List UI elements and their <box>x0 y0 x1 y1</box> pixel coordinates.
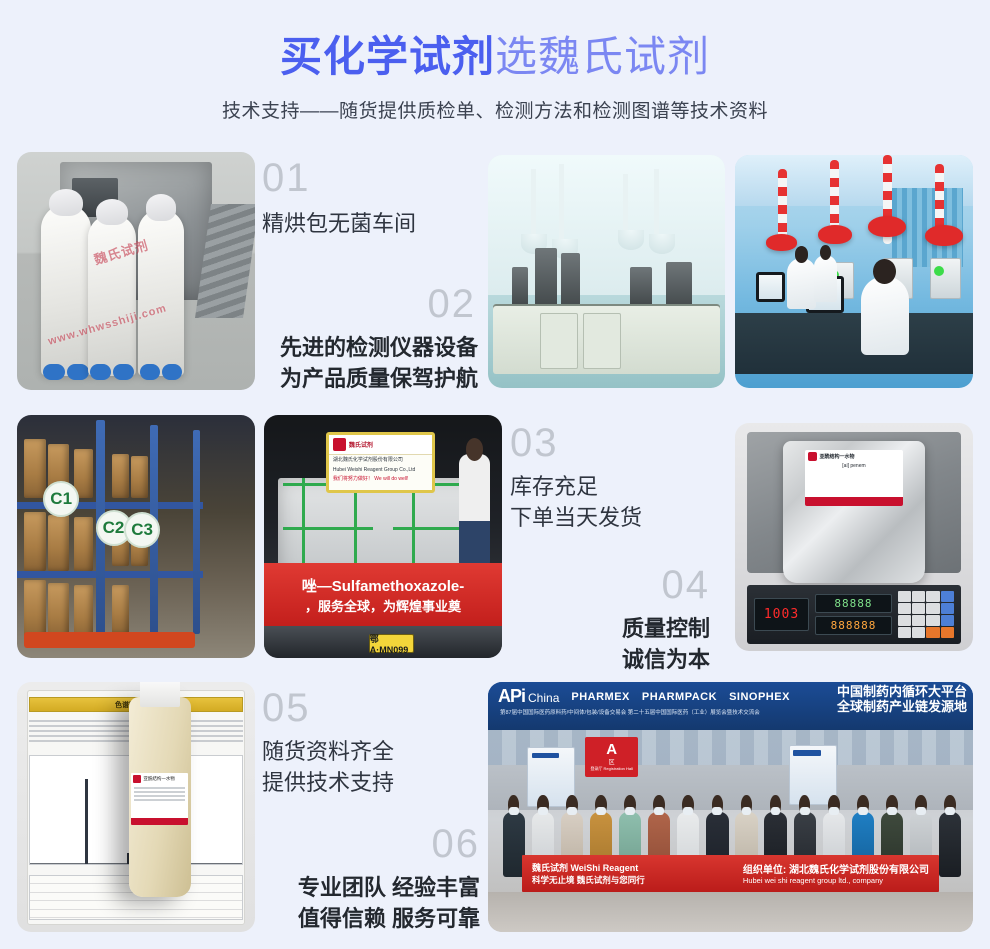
hall-sign-letter: A <box>606 742 617 757</box>
scale-control-panel: 1003 88888 888888 <box>747 585 961 644</box>
expo-banner-right-line2: Hubei wei shi reagent group ltd., compan… <box>743 876 929 885</box>
feature-text-05-line2: 提供技术支持 <box>262 767 394 798</box>
brand-pharmex: PHARMEX <box>571 691 630 703</box>
bottle-label-text: 亚酰结构一水物 <box>143 776 175 782</box>
truck-banner-line2: ，服务全球，为辉煌事业奠 <box>305 596 461 615</box>
brand-pharmpack: PHARMPACK <box>642 691 717 703</box>
expo-banner-left-line2: 科学无止境 魏氏试剂与您同行 <box>532 874 645 886</box>
truck-red-banner: 唑—Sulfamethoxazole- ，服务全球，为辉煌事业奠 <box>264 563 502 626</box>
feature-text-04-line2: 诚信为本 <box>520 644 710 675</box>
photo-truck-loading: 魏氏试剂 湖北魏氏化学试剂股份有限公司 Hubei Weishi Reagent… <box>264 415 502 658</box>
expo-top-band: APiChina PHARMEX PHARMPACK SINOPHEX 第87届… <box>488 682 973 730</box>
photo-chromatogram: 色谱图和结果 亚酰结构一水物 <box>17 682 255 932</box>
photo-expo-group: APiChina PHARMEX PHARMPACK SINOPHEX 第87届… <box>488 682 973 932</box>
feature-text-05-line1: 随货资料齐全 <box>262 736 394 767</box>
product-name-en: [ai] penem <box>805 463 902 469</box>
expo-red-banner: 魏氏试剂 WeiShi Reagent 科学无止境 魏氏试剂与您同行 组织单位:… <box>522 855 939 893</box>
title-light: 选魏氏试剂 <box>495 33 710 80</box>
sample-bottle: 亚酰结构一水物 <box>129 697 191 897</box>
feature-number-03: 03 <box>510 421 642 465</box>
photo-lab-blue <box>735 155 973 388</box>
sign-sub-en: Hubei Weishi Reagent Group Co.,Ltd <box>329 465 432 475</box>
feature-text-06-line2: 值得信赖 服务可靠 <box>268 903 480 934</box>
feature-text-04-line1: 质量控制 <box>520 613 710 644</box>
expo-banner-left-line1: 魏氏试剂 WeiShi Reagent <box>532 861 645 874</box>
license-plate: 鄂A·MN099 <box>369 634 414 653</box>
hall-sign-en: 登录厅 Registration Hall <box>590 766 632 772</box>
sign-sub-cn: 湖北魏氏化学试剂股份有限公司 <box>329 455 432 465</box>
feature-row-1: 魏氏试剂 www.whwsshiji.com 01 精烘包无菌车间 02 先进的… <box>0 152 990 390</box>
feature-caption-05: 05 随货资料齐全 提供技术支持 <box>262 686 394 798</box>
page-header: 买化学试剂选魏氏试剂 技术支持——随货提供质检单、检测方法和检测图谱等技术资料 <box>0 0 990 150</box>
photo-cleanroom: 魏氏试剂 www.whwsshiji.com <box>17 152 255 390</box>
feature-text-02-line2: 为产品质量保驾护航 <box>280 363 476 394</box>
feature-number-05: 05 <box>262 686 394 730</box>
sign-slogan: 我们将努力做好！ We will do well! <box>329 475 432 482</box>
feature-text-01-line1: 精烘包无菌车间 <box>262 208 416 239</box>
scale-total-display: 888888 <box>815 616 892 635</box>
feature-caption-02: 02 先进的检测仪器设备 为产品质量保驾护航 <box>280 282 476 394</box>
photo-warehouse: C1 C2 C3 <box>17 415 255 658</box>
feature-number-01: 01 <box>262 156 416 200</box>
page-title: 买化学试剂选魏氏试剂 <box>0 32 990 82</box>
feature-caption-04: 04 质量控制 诚信为本 <box>520 563 710 675</box>
scale-keypad[interactable] <box>898 591 954 637</box>
feature-caption-06: 06 专业团队 经验丰富 值得信赖 服务可靠 <box>268 822 480 934</box>
truck-banner-line1: 唑—Sulfamethoxazole- <box>302 575 465 596</box>
sign-title: 魏氏试剂 <box>349 440 373 449</box>
scale-weight-display: 1003 <box>754 598 809 631</box>
api-china-logo: APiChina <box>498 686 559 707</box>
company-sign: 魏氏试剂 湖北魏氏化学试剂股份有限公司 Hubei Weishi Reagent… <box>326 432 435 493</box>
title-strong: 买化学试剂 <box>280 33 495 80</box>
expo-banner-right-line1: 组织单位: 湖北魏氏化学试剂股份有限公司 <box>743 861 929 876</box>
expo-band-cn: 中国制药内循环大平台 全球制药产业链发源地 <box>837 684 967 714</box>
hall-a-sign: A 区 登录厅 Registration Hall <box>585 737 638 777</box>
brand-sinophex: SINOPHEX <box>729 691 790 703</box>
rack-tag-c1: C1 <box>43 481 79 517</box>
feature-text-03-line1: 库存充足 <box>510 471 642 502</box>
feature-text-03-line2: 下单当天发货 <box>510 502 642 533</box>
product-label: 亚酰结构一水物 [ai] penem <box>805 450 902 507</box>
feature-text-06-line1: 专业团队 经验丰富 <box>268 872 480 903</box>
feature-number-06: 06 <box>268 822 480 866</box>
feature-number-02: 02 <box>280 282 476 326</box>
feature-number-04: 04 <box>520 563 710 607</box>
promo-page: 买化学试剂选魏氏试剂 技术支持——随货提供质检单、检测方法和检测图谱等技术资料 … <box>0 0 990 949</box>
feature-row-2: C1 C2 C3 魏氏试剂 <box>0 415 990 658</box>
photo-lab-bench <box>488 155 725 388</box>
feature-caption-01: 01 精烘包无菌车间 <box>262 156 416 239</box>
feature-text-02-line1: 先进的检测仪器设备 <box>280 332 476 363</box>
hall-sign-cn: 区 <box>609 757 615 766</box>
feature-caption-03: 03 库存充足 下单当天发货 <box>510 421 642 533</box>
product-name-cn: 亚酰结构一水物 <box>819 453 854 460</box>
photo-weighing-scale: 亚酰结构一水物 [ai] penem 1003 88888 888888 <box>735 423 973 651</box>
feature-row-3: 色谱图和结果 亚酰结构一水物 <box>0 682 990 932</box>
page-subtitle: 技术支持——随货提供质检单、检测方法和检测图谱等技术资料 <box>0 96 990 123</box>
scale-unit-price-display: 88888 <box>815 594 892 613</box>
